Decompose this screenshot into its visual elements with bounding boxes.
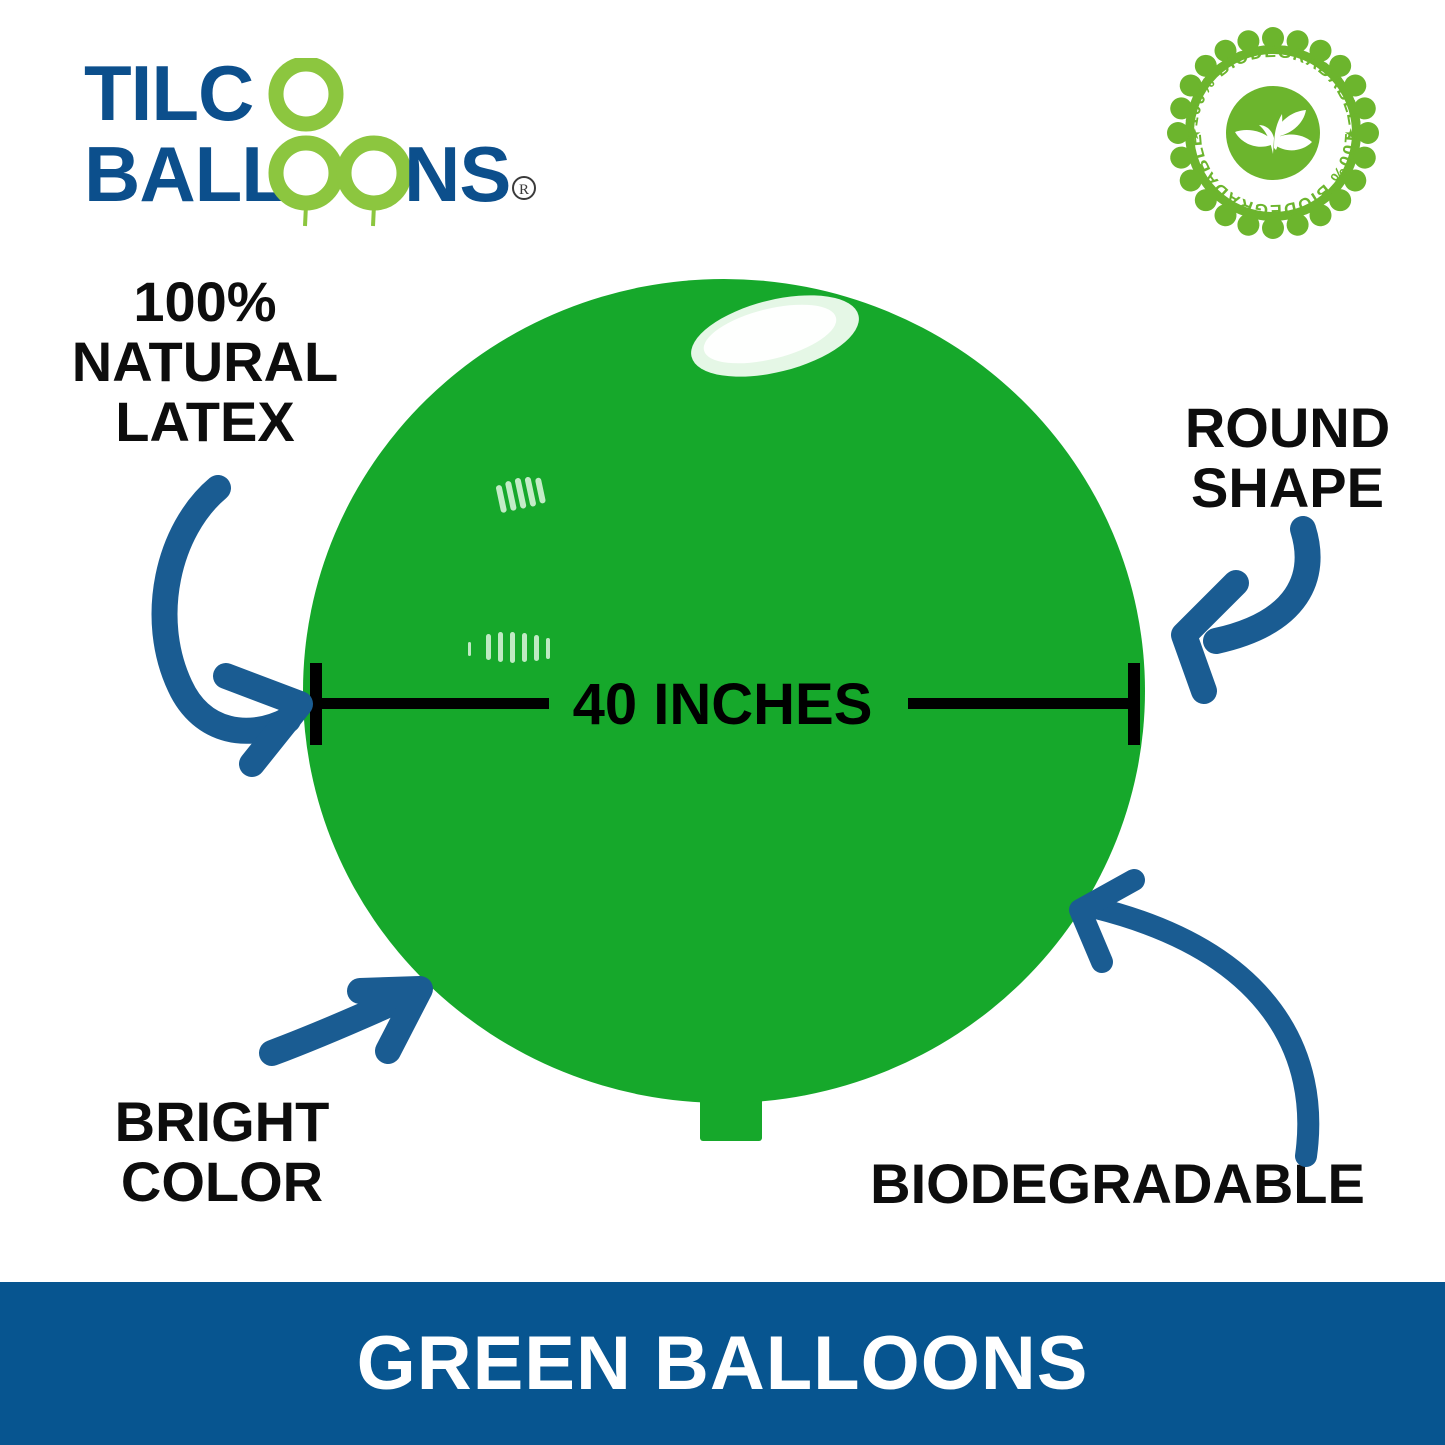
biodegradable-seal-badge: 100% BIODEGRADABLE 100% BIODEGRADABLE ★ …	[1166, 26, 1380, 240]
arrow-bright-color	[268, 955, 468, 1095]
logo-balloon-o-3	[344, 143, 404, 203]
callout-bright-color: BRIGHT COLOR	[52, 1092, 392, 1212]
logo-text-ns: NS	[404, 130, 510, 218]
arrow-natural-latex	[140, 468, 350, 808]
callout-natural-latex: 100% NATURAL LATEX	[0, 272, 410, 452]
registered-mark-letter: R	[519, 182, 529, 198]
logo-text-tilc: TILC	[84, 58, 253, 137]
badge-star-left-icon: ★	[1188, 126, 1201, 143]
bottom-banner: GREEN BALLOONS	[0, 1282, 1445, 1445]
banner-title: GREEN BALLOONS	[357, 1320, 1089, 1407]
product-infographic: TILC BALL NS R	[0, 0, 1445, 1445]
arrow-round-shape	[1158, 515, 1368, 725]
logo-balloon-string-2	[373, 205, 374, 226]
logo-text-ball: BALL	[84, 130, 288, 218]
arrow-biodegradable	[1058, 866, 1348, 1166]
logo-balloon-string-1	[305, 205, 306, 226]
badge-star-right-icon: ★	[1344, 126, 1357, 143]
brand-logo[interactable]: TILC BALL NS R	[84, 58, 554, 228]
logo-balloon-o-1	[276, 64, 336, 124]
arrow-biodegradable-shaft	[1096, 908, 1308, 1156]
callout-round-shape: ROUND SHAPE	[1130, 398, 1445, 518]
